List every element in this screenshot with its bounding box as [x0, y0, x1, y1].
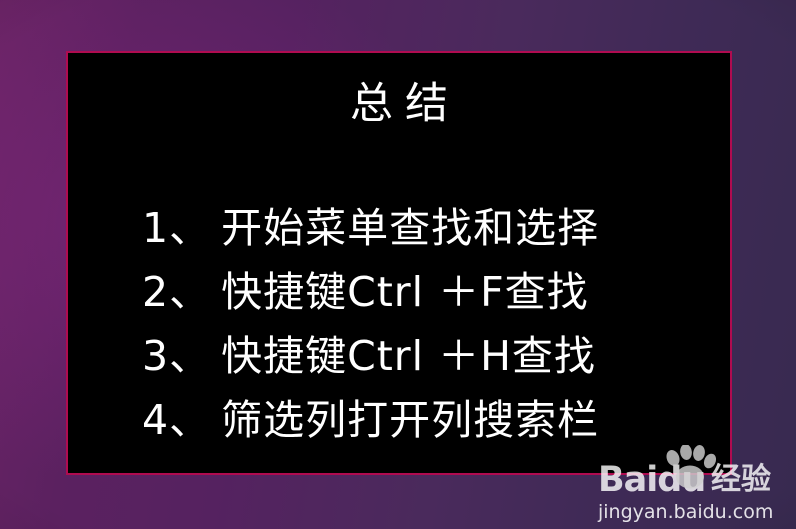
slide-canvas: 总结 1、 开始菜单查找和选择 2、 快捷键Ctrl ＋F查找 3、 快捷键Ct…	[0, 0, 796, 529]
list-item-label: 筛选列打开列搜索栏	[221, 388, 599, 452]
paw-print-icon	[660, 445, 718, 489]
list-item-index: 1、	[142, 196, 211, 260]
list-item-label: 快捷键Ctrl ＋H查找	[221, 324, 596, 388]
baidu-jingyan-watermark: Baidu 经验 jingyan.baidu.com	[598, 458, 788, 523]
list-item-label: 快捷键Ctrl ＋F查找	[221, 260, 589, 324]
bullet-list: 1、 开始菜单查找和选择 2、 快捷键Ctrl ＋F查找 3、 快捷键Ctrl …	[142, 196, 720, 452]
watermark-brand-cn: 经验	[711, 462, 771, 498]
list-item: 1、 开始菜单查找和选择	[142, 196, 720, 260]
list-item: 4、 筛选列打开列搜索栏	[142, 388, 720, 452]
page-title: 总结	[68, 83, 730, 126]
watermark-url: jingyan.baidu.com	[598, 501, 788, 523]
list-item-index: 2、	[142, 260, 211, 324]
list-item-index: 3、	[142, 324, 211, 388]
list-item-index: 4、	[142, 388, 211, 452]
list-item: 3、 快捷键Ctrl ＋H查找	[142, 324, 720, 388]
watermark-logo: Baidu 经验	[598, 458, 788, 502]
list-item: 2、 快捷键Ctrl ＋F查找	[142, 260, 720, 324]
list-item-label: 开始菜单查找和选择	[221, 196, 599, 260]
slide-content-box: 总结 1、 开始菜单查找和选择 2、 快捷键Ctrl ＋F查找 3、 快捷键Ct…	[66, 51, 732, 475]
